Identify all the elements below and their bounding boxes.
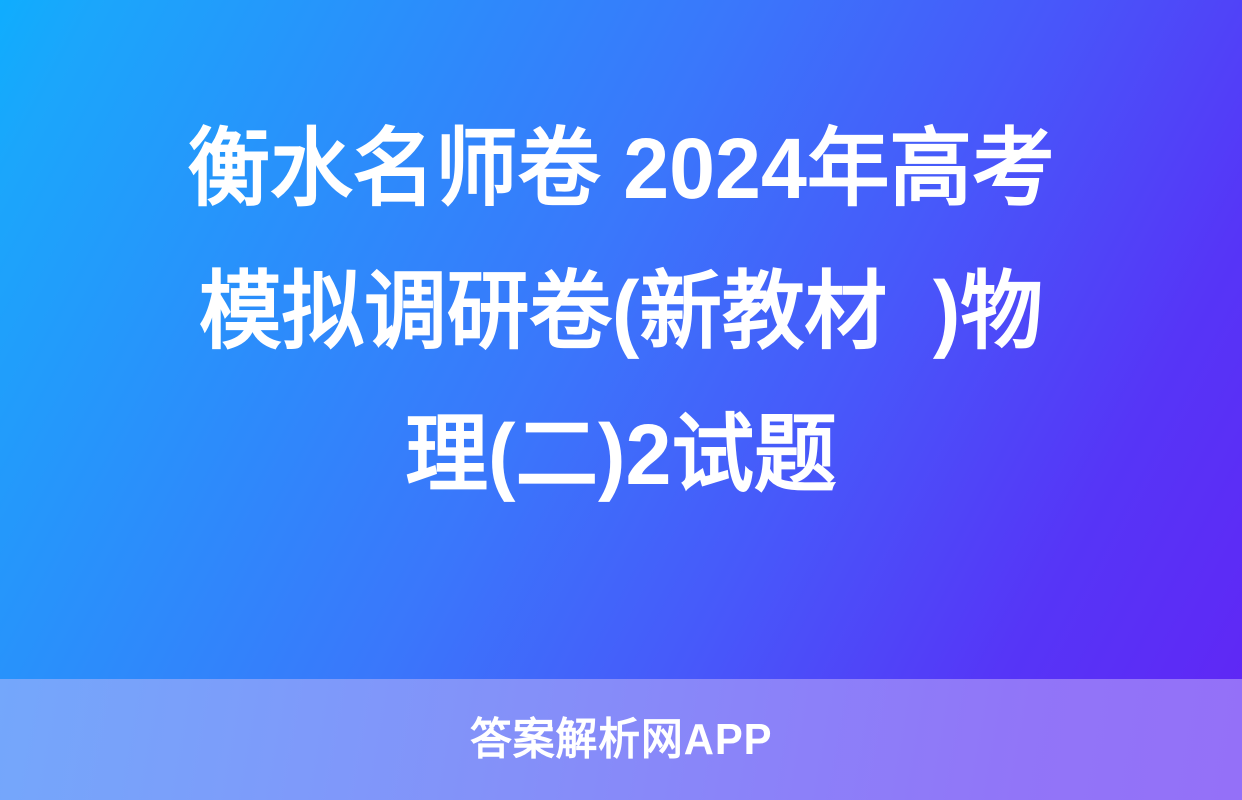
title-line-1: 衡水名师卷 2024年高考 bbox=[84, 98, 1157, 241]
poster-root: 衡水名师卷 2024年高考 模拟调研卷(新教材 )物 理(二)2试题 答案解析网… bbox=[0, 0, 1242, 800]
page-title: 衡水名师卷 2024年高考 模拟调研卷(新教材 )物 理(二)2试题 bbox=[0, 0, 1242, 679]
watermark-bar: 答案解析网APP bbox=[0, 679, 1242, 800]
title-line-2: 模拟调研卷(新教材 )物 bbox=[84, 241, 1157, 384]
watermark-label: 答案解析网APP bbox=[470, 717, 773, 763]
title-line-3: 理(二)2试题 bbox=[84, 384, 1157, 527]
